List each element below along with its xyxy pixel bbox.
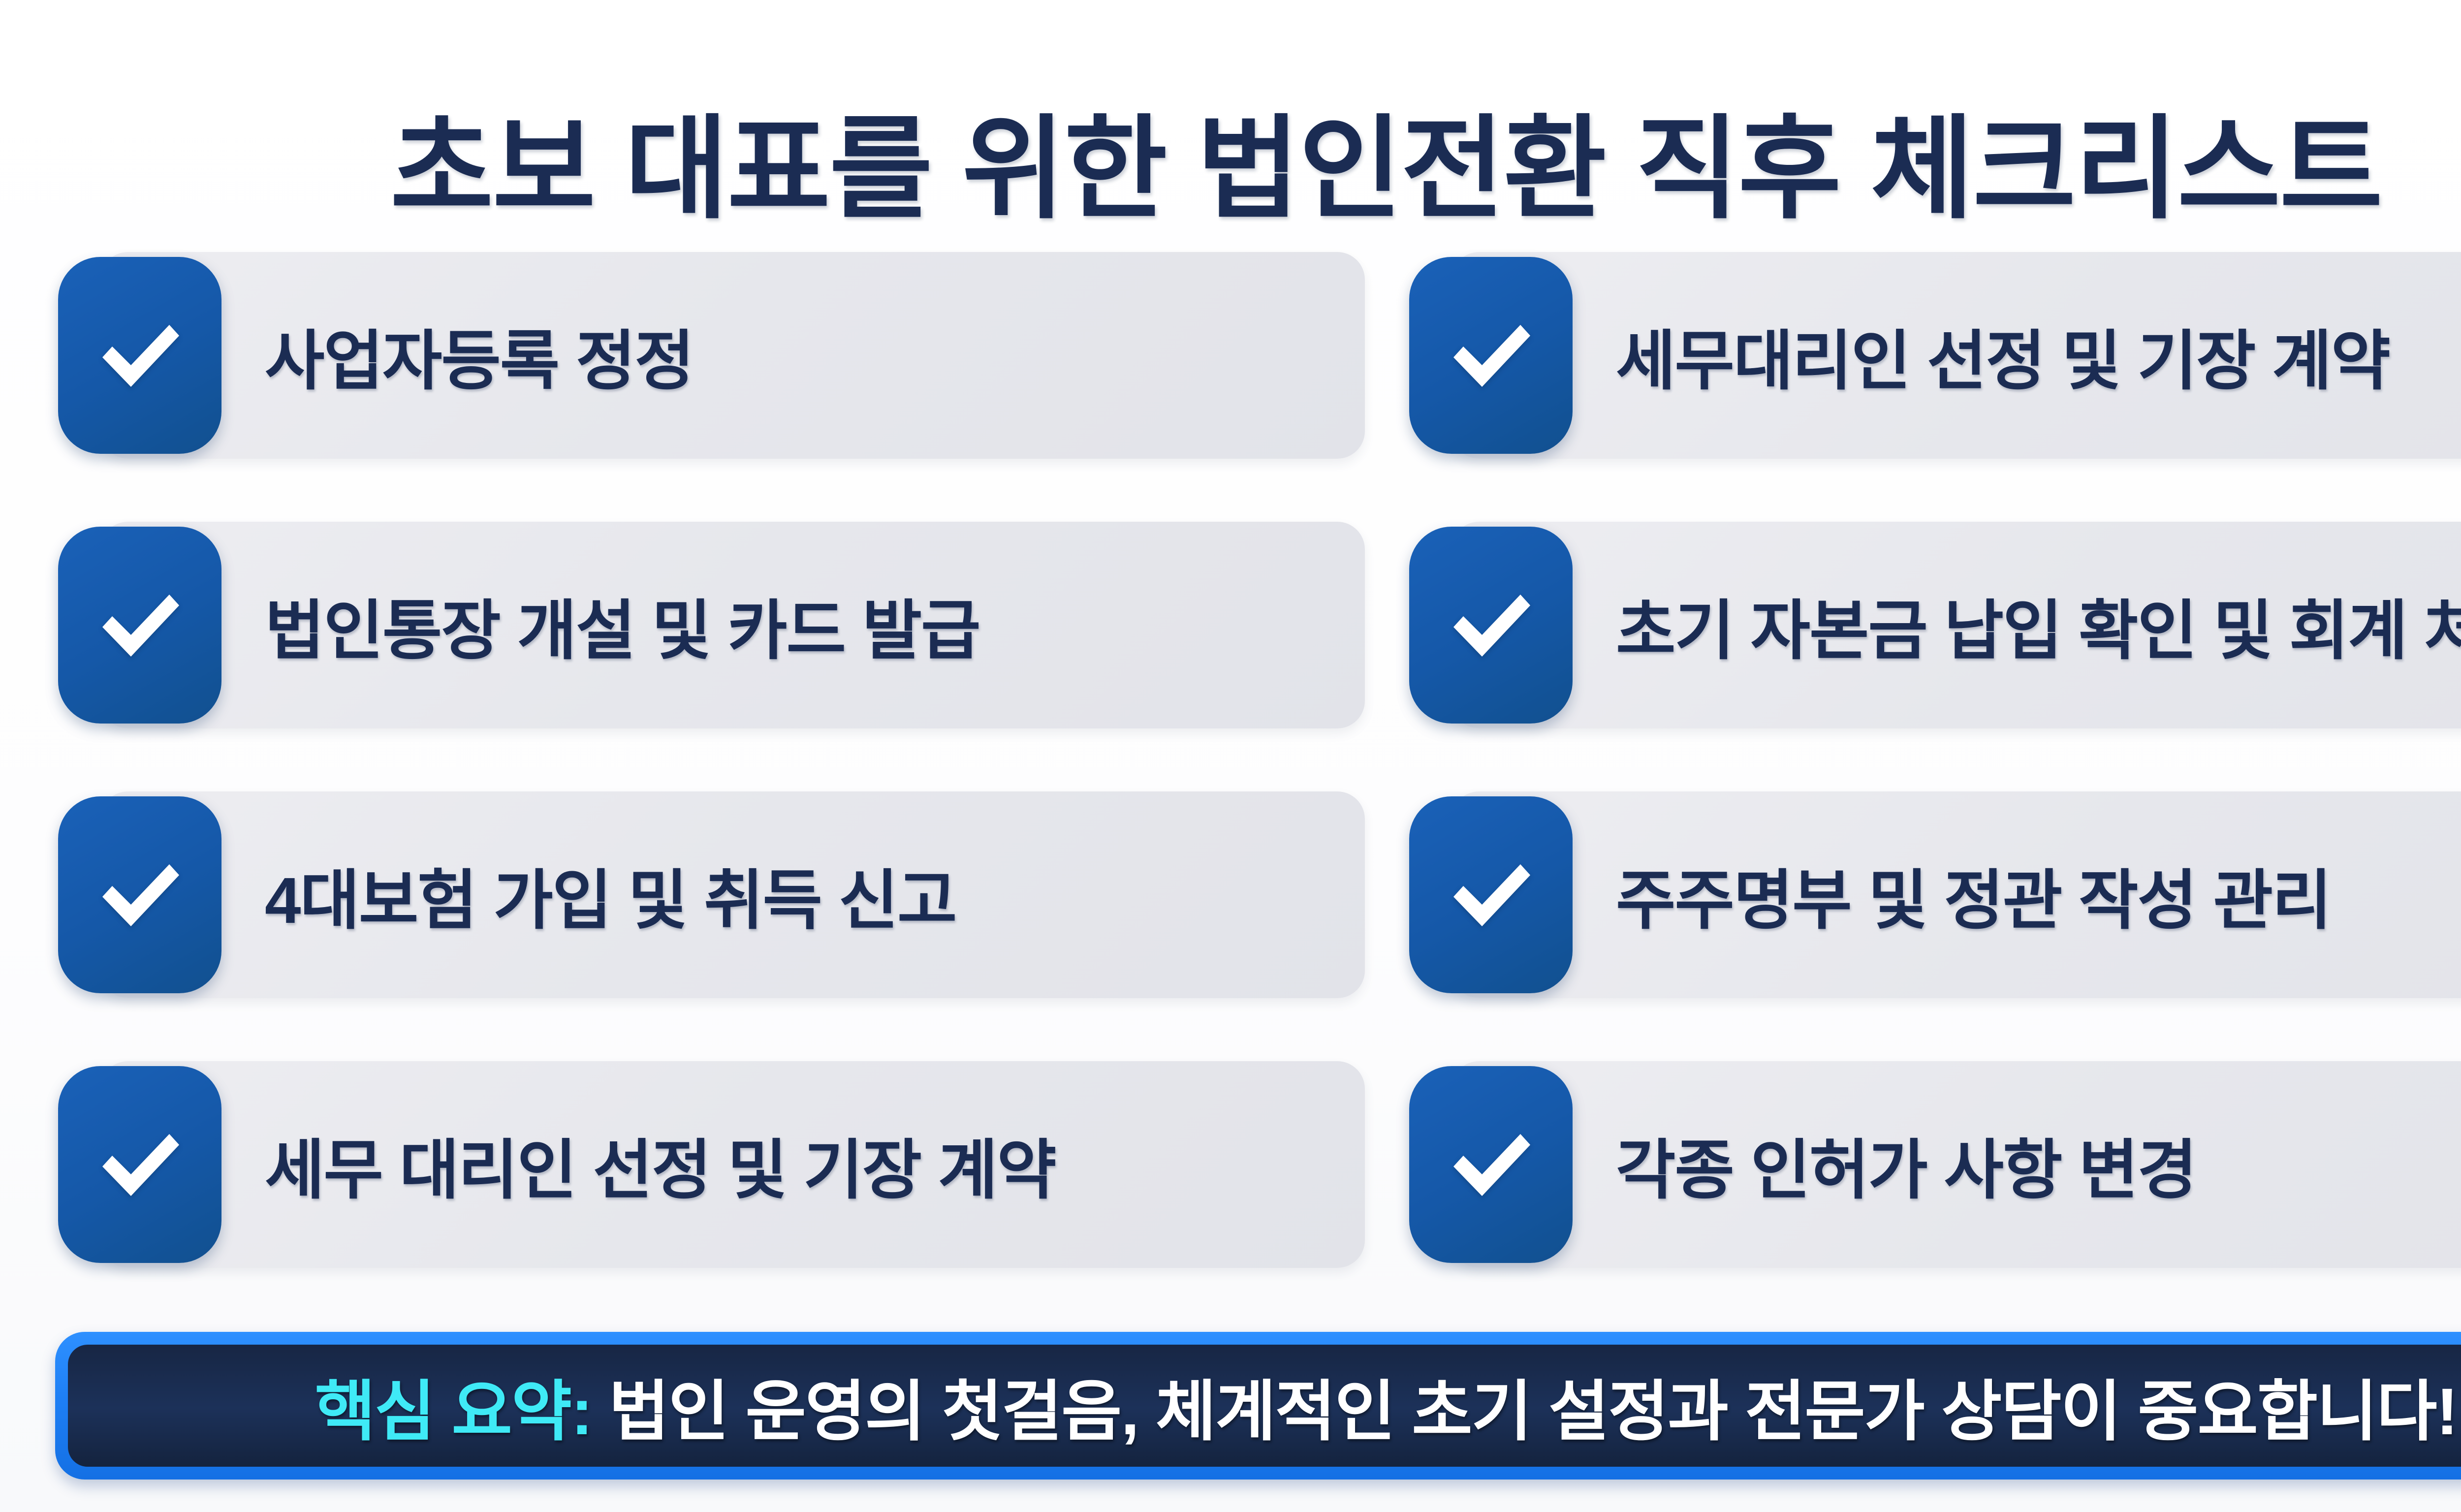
checklist-item-label: 세무 대리인 선정 및 기장 계약	[265, 1118, 1056, 1212]
check-mark-icon	[58, 796, 221, 993]
checklist-grid: 사업자등록 정정 세무대리인 선정 및 기장 계약 법인통장 개설 및 카드 발…	[58, 252, 2461, 1268]
check-mark-icon	[1409, 1066, 1573, 1263]
checklist-item-8[interactable]: 각종 인허가 사항 변경	[1409, 1061, 2461, 1268]
checklist-item-label: 각종 인허가 사항 변경	[1616, 1118, 2196, 1212]
checklist-item-label: 초기 자본금 납입 확인 및 회계 처리	[1616, 578, 2461, 672]
check-mark-icon	[1409, 796, 1573, 993]
summary-banner: 핵심 요약: 법인 운영의 첫걸음, 체계적인 초기 설정과 전문가 상담이 중…	[55, 1332, 2461, 1480]
checklist-item-label: 법인통장 개설 및 카드 발급	[265, 578, 980, 672]
check-mark-icon	[1409, 527, 1573, 724]
summary-banner-inner: 핵심 요약: 법인 운영의 첫걸음, 체계적인 초기 설정과 전문가 상담이 중…	[68, 1345, 2461, 1467]
checklist-item-2[interactable]: 세무대리인 선정 및 기장 계약	[1409, 252, 2461, 459]
checklist-item-4[interactable]: 초기 자본금 납입 확인 및 회계 처리	[1409, 522, 2461, 728]
check-mark-icon	[1409, 257, 1573, 454]
summary-accent-label: 핵심 요약:	[315, 1358, 592, 1453]
checklist-item-5[interactable]: 4대보험 가입 및 취득 신고	[58, 791, 1365, 998]
checklist-item-6[interactable]: 주주명부 및 정관 작성 관리	[1409, 791, 2461, 998]
infographic-page: 초보 대표를 위한 법인전환 직후 체크리스트 사업자등록 정정 세무대리인 선…	[0, 0, 2461, 1512]
checklist-item-7[interactable]: 세무 대리인 선정 및 기장 계약	[58, 1061, 1365, 1268]
checklist-item-label: 주주명부 및 정관 작성 관리	[1616, 848, 2331, 942]
check-mark-icon	[58, 527, 221, 724]
checklist-item-1[interactable]: 사업자등록 정정	[58, 252, 1365, 459]
checklist-item-label: 세무대리인 선정 및 기장 계약	[1616, 309, 2390, 403]
check-mark-icon	[58, 1066, 221, 1263]
checklist-item-label: 4대보험 가입 및 취득 신고	[265, 848, 956, 942]
check-mark-icon	[58, 257, 221, 454]
summary-message: 법인 운영의 첫걸음, 체계적인 초기 설정과 전문가 상담이 중요합니다!	[609, 1358, 2458, 1453]
page-title: 초보 대표를 위한 법인전환 직후 체크리스트	[390, 109, 2382, 230]
checklist-item-3[interactable]: 법인통장 개설 및 카드 발급	[58, 522, 1365, 728]
checklist-item-label: 사업자등록 정정	[265, 309, 694, 403]
